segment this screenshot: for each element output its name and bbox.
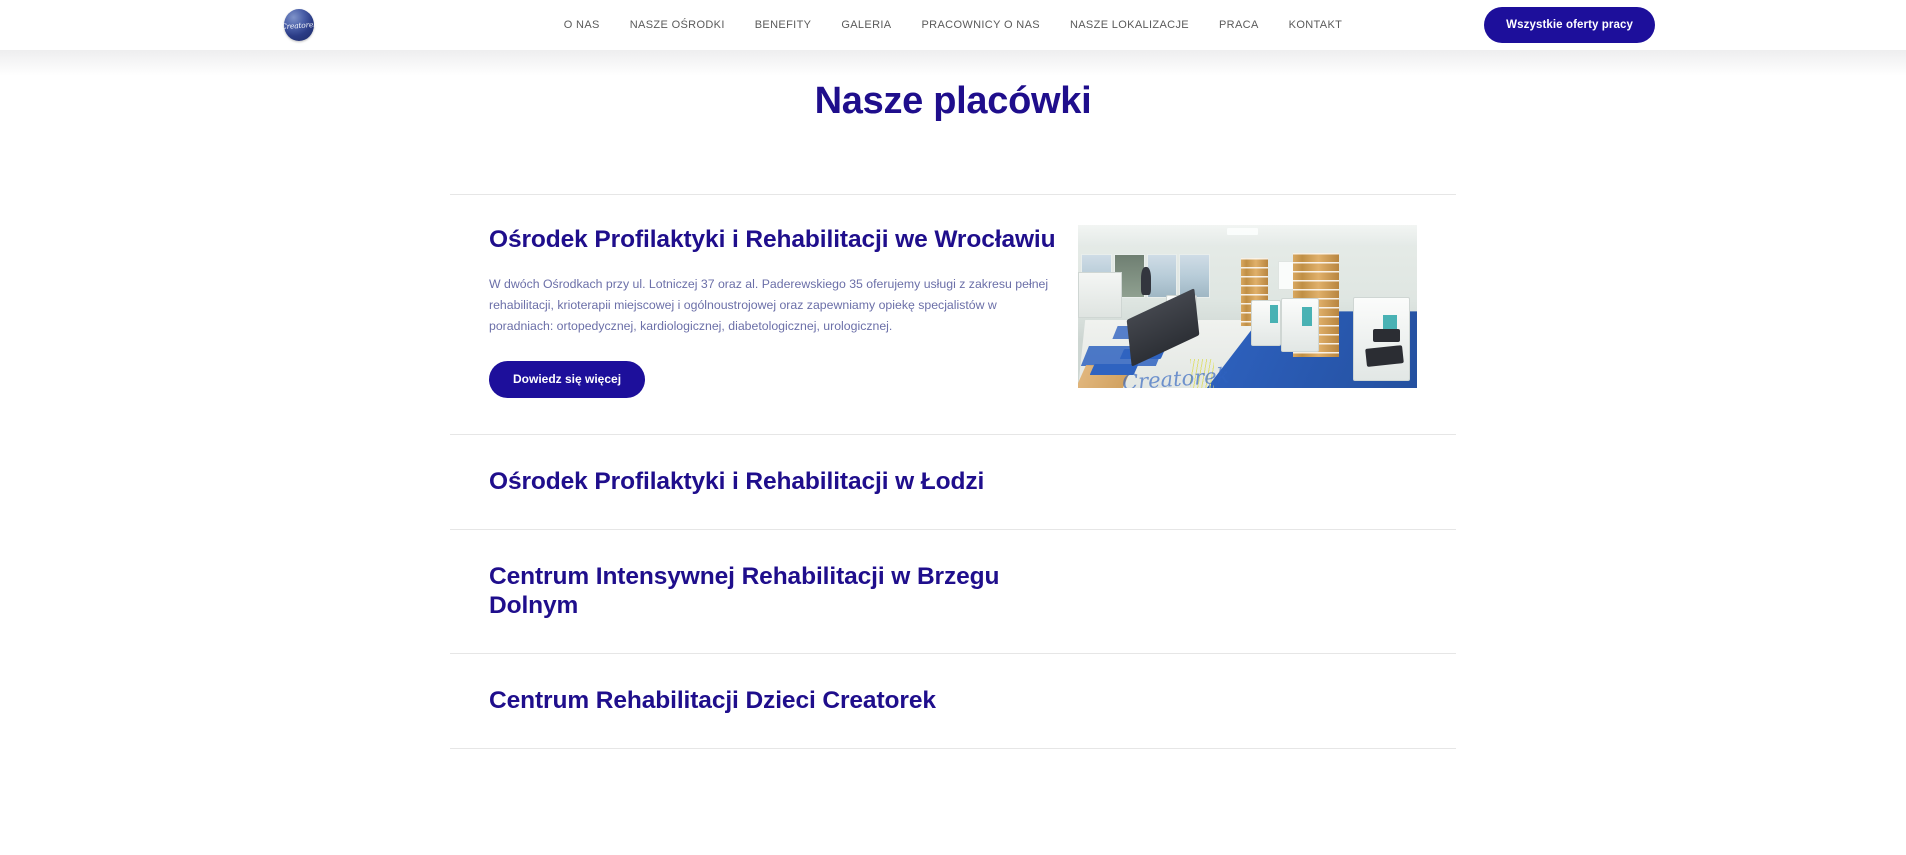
facility-text-block: Centrum Intensywnej Rehabilitacji w Brze… [489,562,1079,620]
nav-item-benefity[interactable]: BENEFITY [740,0,827,50]
nav-item-pracownicy-o-nas[interactable]: PRACOWNICY O NAS [906,0,1054,50]
photo-exercise-machine [1281,298,1318,352]
photo-window-pane [1147,254,1178,298]
logo-text: Creatorek [280,19,317,31]
nav-item-galeria[interactable]: GALERIA [826,0,906,50]
facility-text-block: Ośrodek Profilaktyki i Rehabilitacji we … [489,225,1064,398]
page-title: Nasze placówki [0,80,1906,123]
site-logo[interactable]: Creatorek [281,7,317,43]
nav-item-o-nas[interactable]: O NAS [549,0,615,50]
photo-machine-pad [1373,329,1400,342]
facility-title[interactable]: Centrum Rehabilitacji Dzieci Creatorek [489,686,936,715]
photo-ceiling-light [1227,228,1258,235]
logo-circle-icon: Creatorek [284,9,314,41]
facility-description: W dwóch Ośrodkach przy ul. Lotniczej 37 … [489,274,1064,337]
nav-item-kontakt[interactable]: KONTAKT [1274,0,1358,50]
facility-text-block: Centrum Rehabilitacji Dzieci Creatorek [489,686,936,715]
all-job-offers-button[interactable]: Wszystkie oferty pracy [1484,7,1655,43]
photo-machine-accent [1302,307,1312,327]
nav-item-praca[interactable]: PRACA [1204,0,1274,50]
photo-machine-accent [1270,305,1278,323]
photo-person [1141,267,1151,295]
facility-title[interactable]: Ośrodek Profilaktyki i Rehabilitacji we … [489,225,1064,254]
facility-card-wroclaw: Ośrodek Profilaktyki i Rehabilitacji we … [450,195,1456,434]
divider [450,748,1456,749]
learn-more-button[interactable]: Dowiedz się więcej [489,361,645,398]
facilities-list: Ośrodek Profilaktyki i Rehabilitacji we … [450,194,1456,749]
facility-card-brzeg-dolny: Centrum Intensywnej Rehabilitacji w Brze… [450,530,1456,653]
page-content: Nasze placówki Ośrodek Profilaktyki i Re… [0,80,1906,749]
facility-card-creatorek: Centrum Rehabilitacji Dzieci Creatorek [450,654,1456,748]
facility-title[interactable]: Ośrodek Profilaktyki i Rehabilitacji w Ł… [489,467,984,496]
nav-item-nasze-lokalizacje[interactable]: NASZE LOKALIZACJE [1055,0,1204,50]
facility-photo: Creatorek [1078,225,1417,388]
site-header: Creatorek O NAS NASZE OŚRODKI BENEFITY G… [0,0,1906,50]
facility-title[interactable]: Centrum Intensywnej Rehabilitacji w Brze… [489,562,1079,620]
facility-text-block: Ośrodek Profilaktyki i Rehabilitacji w Ł… [489,467,984,496]
photo-equipment-frame [1078,272,1122,318]
nav-item-nasze-osrodki[interactable]: NASZE OŚRODKI [615,0,740,50]
facility-card-lodz: Ośrodek Profilaktyki i Rehabilitacji w Ł… [450,435,1456,529]
main-navigation: O NAS NASZE OŚRODKI BENEFITY GALERIA PRA… [549,0,1358,50]
